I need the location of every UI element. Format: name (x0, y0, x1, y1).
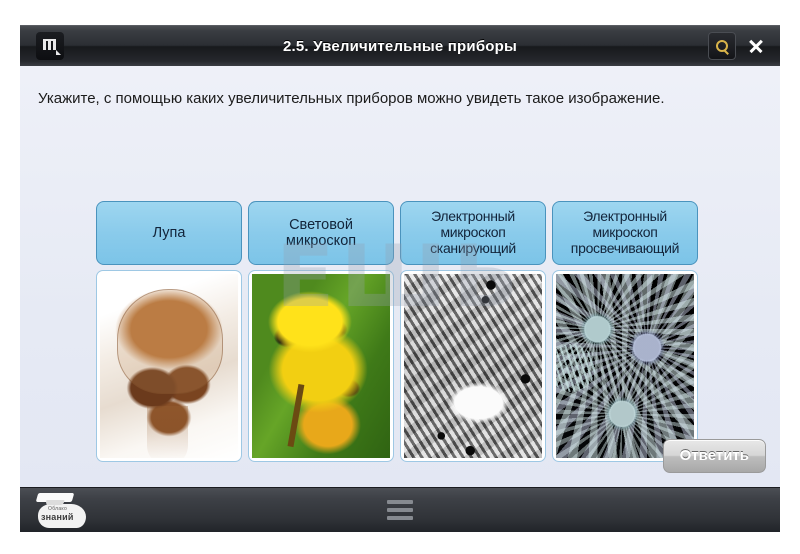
oblako-znaniy-logo[interactable]: Облако знаний (34, 492, 90, 528)
tem-coccolithophore-photo (556, 274, 694, 458)
option-column-1: Лупа (96, 201, 242, 462)
application-window: 2.5. Увеличительные приборы Укажите, с п… (20, 25, 780, 532)
option-button-2[interactable]: Световой микроскоп (248, 201, 394, 265)
option-button-3[interactable]: Электронный микроскоп сканирующий (400, 201, 546, 265)
option-column-4: Электронный микроскоп просвечивающий (552, 201, 698, 462)
hamburger-menu-icon[interactable] (387, 500, 413, 520)
grid-menu-icon[interactable] (36, 32, 64, 60)
page-title: 2.5. Увеличительные приборы (20, 38, 780, 55)
option-column-2: Световой микроскоп (248, 201, 394, 462)
option-column-3: Электронный микроскоп сканирующий (400, 201, 546, 462)
option-button-4[interactable]: Электронный микроскоп просвечивающий (552, 201, 698, 265)
option-image-panel-2[interactable] (248, 270, 394, 462)
question-text: Укажите, с помощью каких увеличительных … (38, 88, 762, 110)
logo-text-line2: знаний (41, 512, 74, 522)
hamburger-bar-1 (387, 500, 413, 504)
search-icon[interactable] (708, 32, 736, 60)
answer-button-container: Ответить (663, 439, 766, 473)
grid-menu-glyph (43, 39, 58, 53)
option-button-1[interactable]: Лупа (96, 201, 242, 265)
close-icon[interactable] (742, 32, 770, 60)
hamburger-bar-3 (387, 516, 413, 520)
light-microscope-fly-head-photo (100, 274, 238, 458)
sem-grayscale-tissue-photo (404, 274, 542, 458)
option-image-panel-3[interactable] (400, 270, 546, 462)
title-bar: 2.5. Увеличительные приборы (20, 25, 780, 66)
hamburger-bar-2 (387, 508, 413, 512)
logo-graduation-cap-base (46, 500, 65, 505)
close-x-glyph (748, 38, 764, 54)
titlebar-actions (708, 32, 770, 60)
answer-button[interactable]: Ответить (663, 439, 766, 473)
bee-with-pollen-photo (252, 274, 390, 458)
options-grid: Лупа Световой микроскоп Электронный микр… (96, 201, 704, 462)
content-area: Укажите, с помощью каких увеличительных … (20, 66, 780, 487)
option-image-panel-4[interactable] (552, 270, 698, 462)
search-magnifier-glyph (716, 40, 729, 53)
bottom-bar: Облако знаний (20, 487, 780, 532)
option-image-panel-1[interactable] (96, 270, 242, 462)
